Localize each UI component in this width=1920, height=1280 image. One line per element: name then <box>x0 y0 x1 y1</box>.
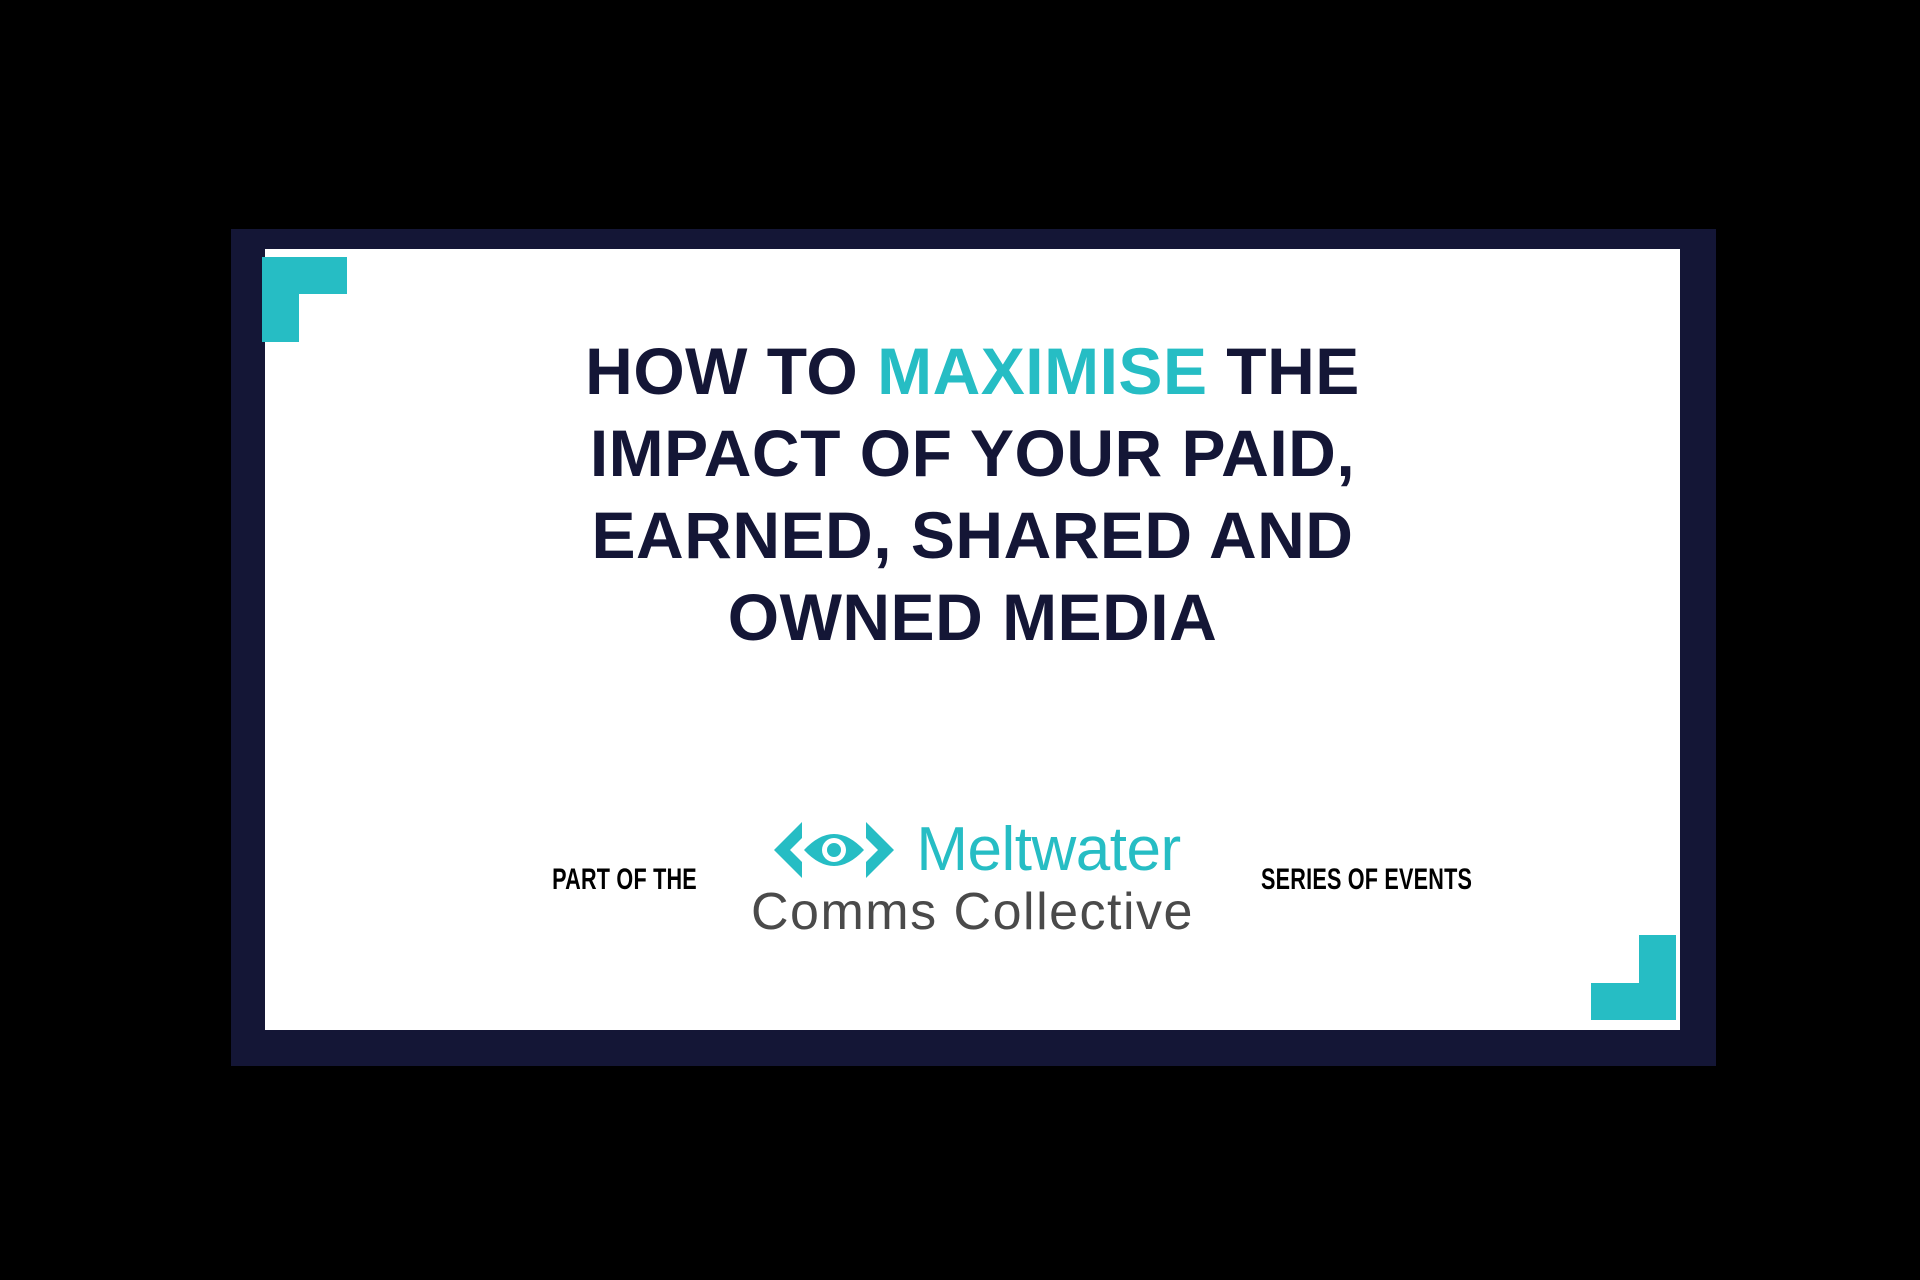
title-line-1: HOW TO MAXIMISE THE <box>265 330 1680 412</box>
title-line-2: IMPACT OF YOUR PAID, <box>265 412 1680 494</box>
meltwater-logo-primary: Meltwater <box>764 819 1180 881</box>
meltwater-wordmark: Meltwater <box>916 819 1180 881</box>
meltwater-logo: Meltwater Comms Collective <box>751 819 1194 941</box>
branding-row: PART OF THE Meltwater Comms Collective <box>265 800 1680 960</box>
title-line-4: OWNED MEDIA <box>265 576 1680 658</box>
title-highlight-word: MAXIMISE <box>877 334 1207 408</box>
slide-page: HOW TO MAXIMISE THE IMPACT OF YOUR PAID,… <box>0 0 1920 1280</box>
series-of-events-label: SERIES OF EVENTS <box>1261 863 1472 897</box>
title-line-1-pre: HOW TO <box>585 334 877 408</box>
meltwater-eye-icon <box>764 820 904 880</box>
title-line-3: EARNED, SHARED AND <box>265 494 1680 576</box>
part-of-the-label-wrap: PART OF THE <box>515 863 725 897</box>
title-line-1-post: THE <box>1207 334 1359 408</box>
comms-collective-wordmark: Comms Collective <box>751 883 1194 941</box>
part-of-the-label: PART OF THE <box>552 863 697 897</box>
series-of-events-label-wrap: SERIES OF EVENTS <box>1220 863 1430 897</box>
slide-title: HOW TO MAXIMISE THE IMPACT OF YOUR PAID,… <box>265 330 1680 658</box>
